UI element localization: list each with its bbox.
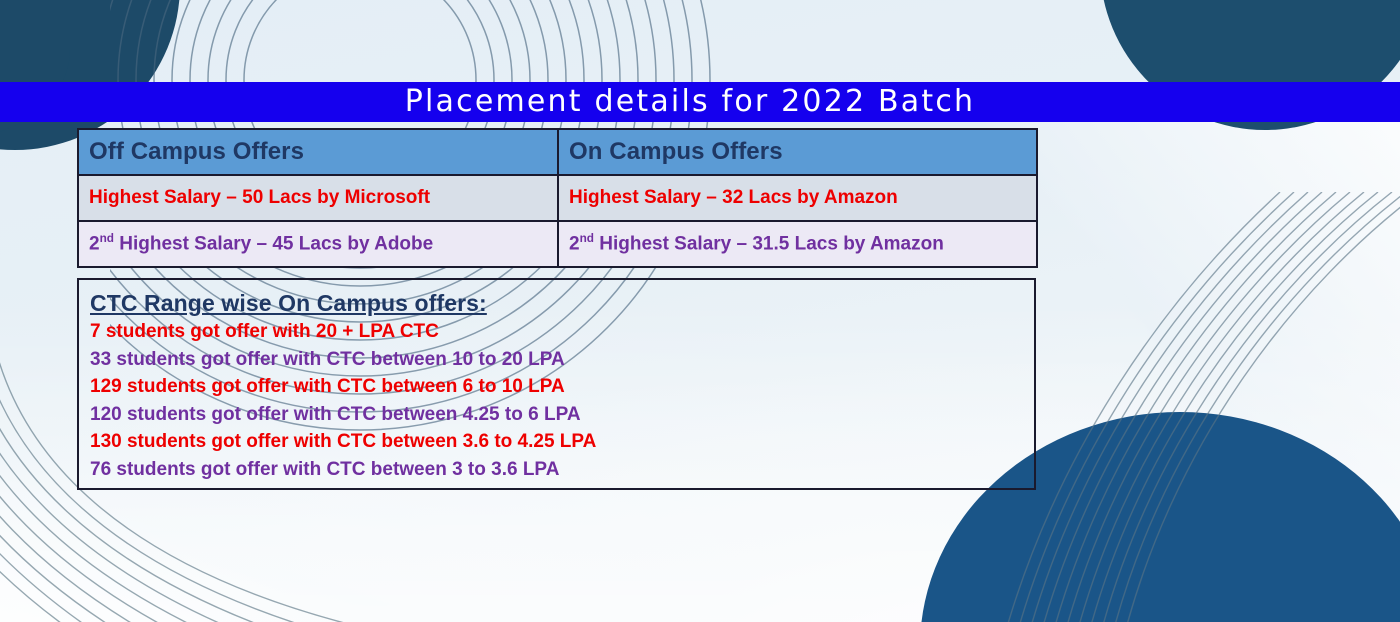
column-header-off-campus: Off Campus Offers (78, 129, 558, 175)
page-title: Placement details for 2022 Batch (0, 82, 1400, 122)
highest-salary-off-campus: Highest Salary – 50 Lacs by Microsoft (78, 175, 558, 221)
table-row: Highest Salary – 50 Lacs by Microsoft Hi… (78, 175, 1037, 221)
ctc-range-heading: CTC Range wise On Campus offers: (90, 288, 1034, 318)
ctc-line-item: 120 students got offer with CTC between … (90, 401, 1034, 429)
column-header-on-campus: On Campus Offers (558, 129, 1037, 175)
second-highest-salary-on-campus: 2nd Highest Salary – 31.5 Lacs by Amazon (558, 221, 1037, 267)
second-highest-salary-off-campus: 2nd Highest Salary – 45 Lacs by Adobe (78, 221, 558, 267)
ctc-line-item: 7 students got offer with 20 + LPA CTC (90, 318, 1034, 346)
title-banner: Placement details for 2022 Batch (0, 82, 1400, 122)
table-header-row: Off Campus Offers On Campus Offers (78, 129, 1037, 175)
ctc-range-box: CTC Range wise On Campus offers: 7 stude… (77, 278, 1036, 490)
ordinal-number: 2 (569, 234, 580, 255)
salary-text: Highest Salary – 45 Lacs by Adobe (114, 234, 433, 255)
table-row: 2nd Highest Salary – 45 Lacs by Adobe 2n… (78, 221, 1037, 267)
ctc-line-item: 130 students got offer with CTC between … (90, 428, 1034, 456)
ctc-line-item: 129 students got offer with CTC between … (90, 373, 1034, 401)
ordinal-number: 2 (89, 234, 100, 255)
ctc-line-item: 33 students got offer with CTC between 1… (90, 346, 1034, 374)
ordinal-suffix: nd (100, 232, 114, 245)
slide-canvas: Placement details for 2022 Batch Off Cam… (0, 0, 1400, 622)
ordinal-suffix: nd (580, 232, 594, 245)
offers-table: Off Campus Offers On Campus Offers Highe… (77, 128, 1038, 268)
salary-text: Highest Salary – 31.5 Lacs by Amazon (594, 234, 944, 255)
highest-salary-on-campus: Highest Salary – 32 Lacs by Amazon (558, 175, 1037, 221)
ctc-line-item: 76 students got offer with CTC between 3… (90, 456, 1034, 484)
